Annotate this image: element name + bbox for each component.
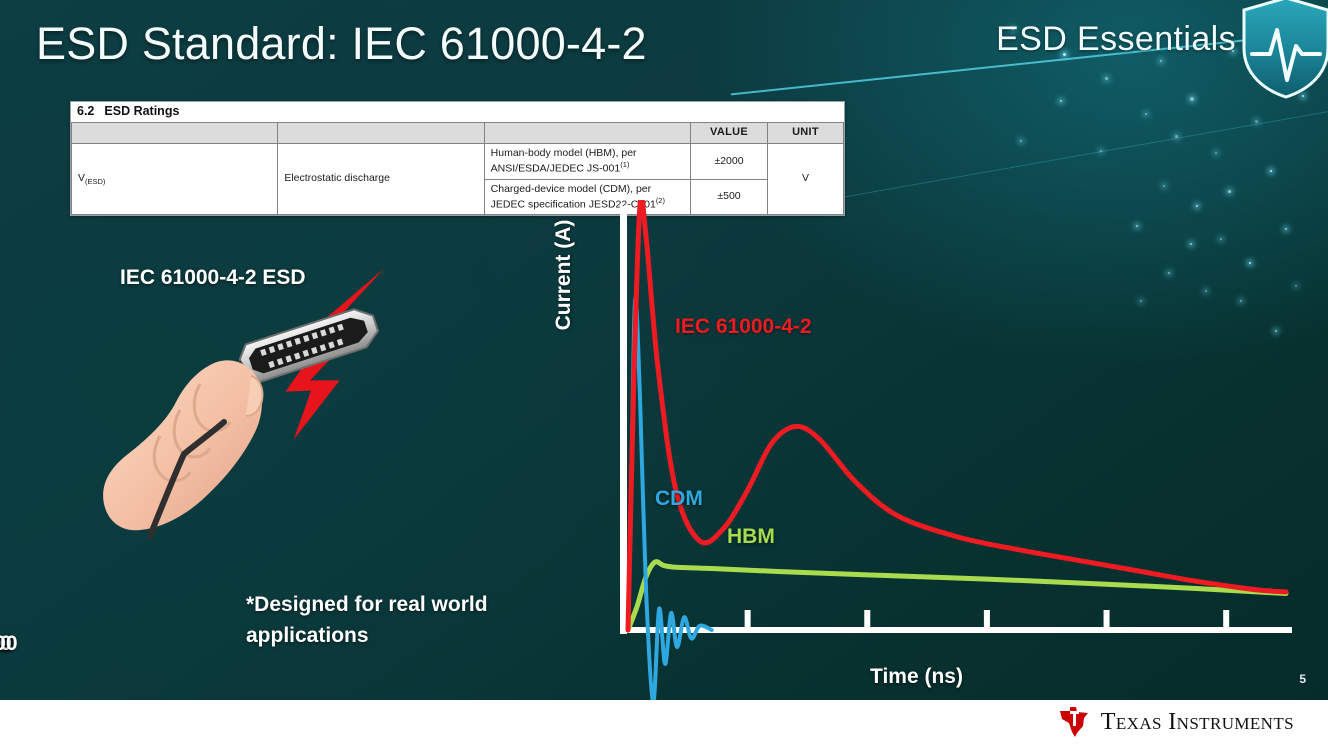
- table-header-unit: UNIT: [768, 123, 844, 144]
- curve-label-iec: IEC 61000-4-2: [675, 315, 812, 339]
- star-particle: [1145, 113, 1147, 115]
- shield-pulse-icon: [1240, 0, 1328, 100]
- y-axis-line: [620, 206, 627, 634]
- curve-label-hbm: HBM: [727, 525, 775, 549]
- esd-illustration: [88, 258, 438, 568]
- curve-label-cdm: CDM: [655, 487, 703, 511]
- page-number: 5: [1299, 672, 1306, 686]
- table-section-title: 6.2ESD Ratings: [71, 102, 844, 122]
- star-particle: [1270, 170, 1272, 172]
- x-axis-label: Time (ns): [870, 665, 963, 689]
- star-particle: [1160, 60, 1162, 62]
- cell-condition-hbm: Human-body model (HBM), per ANSI/ESDA/JE…: [484, 143, 690, 179]
- hand-icon: [103, 360, 262, 536]
- texas-instruments-logo: Texas Instruments: [1057, 706, 1294, 738]
- cell-symbol: V(ESD): [72, 143, 278, 215]
- x-axis-tick: [984, 610, 990, 630]
- star-particle: [1060, 100, 1062, 102]
- star-particle: [1190, 97, 1194, 101]
- star-particle: [1100, 150, 1102, 152]
- texas-state-icon: [1057, 706, 1091, 738]
- ti-wordmark: Texas Instruments: [1101, 709, 1294, 736]
- cell-value-hbm: ±2000: [691, 143, 768, 179]
- page-title: ESD Standard: IEC 61000-4-2: [36, 18, 647, 70]
- slide-footer: Texas Instruments: [0, 700, 1328, 746]
- table-header-blank-symbol: [72, 123, 278, 144]
- x-axis-tick: [864, 610, 870, 630]
- chart-curve-iec-61000-4-2: [628, 200, 1286, 630]
- x-axis-tick: [1104, 610, 1110, 630]
- designed-note: *Designed for real world applications: [246, 589, 576, 651]
- chart-curves: [628, 200, 1286, 700]
- table-row: V(ESD) Electrostatic discharge Human-bod…: [72, 143, 844, 179]
- brand-label: ESD Essentials: [996, 20, 1236, 59]
- slide-canvas: ESD Standard: IEC 61000-4-2 ESD Essentia…: [0, 0, 1328, 700]
- star-particle: [1228, 190, 1231, 193]
- condition-text-hbm: Human-body model (HBM), per ANSI/ESDA/JE…: [491, 147, 637, 175]
- footnote-marker-1: (1): [620, 160, 629, 169]
- star-particle: [1020, 140, 1022, 142]
- table-section-name: ESD Ratings: [104, 104, 179, 118]
- symbol-text: V: [78, 172, 85, 184]
- star-particle: [1175, 135, 1178, 138]
- table-header-row: VALUE UNIT: [72, 123, 844, 144]
- table-header-blank-condition: [484, 123, 690, 144]
- star-particle: [1105, 77, 1108, 80]
- symbol-subscript: (ESD): [85, 177, 105, 186]
- table-header-blank-parameter: [278, 123, 484, 144]
- x-axis-tick-label: 100: [0, 632, 18, 656]
- x-axis-tick: [1223, 610, 1229, 630]
- cell-parameter: Electrostatic discharge: [278, 143, 484, 215]
- chart-curve-hbm: [628, 562, 1286, 630]
- table-header-value: VALUE: [691, 123, 768, 144]
- esd-waveform-chart: [566, 200, 1296, 700]
- star-particle: [1215, 152, 1217, 154]
- y-axis-label: Current (A): [552, 180, 576, 370]
- x-axis-line: [620, 627, 1292, 633]
- table-section-number: 6.2: [77, 104, 94, 118]
- star-particle: [1255, 120, 1258, 123]
- esd-ratings-table: 6.2ESD Ratings VALUE UNIT V(ESD) Electro…: [70, 101, 845, 216]
- star-particle: [1163, 185, 1165, 187]
- x-axis-tick: [745, 610, 751, 630]
